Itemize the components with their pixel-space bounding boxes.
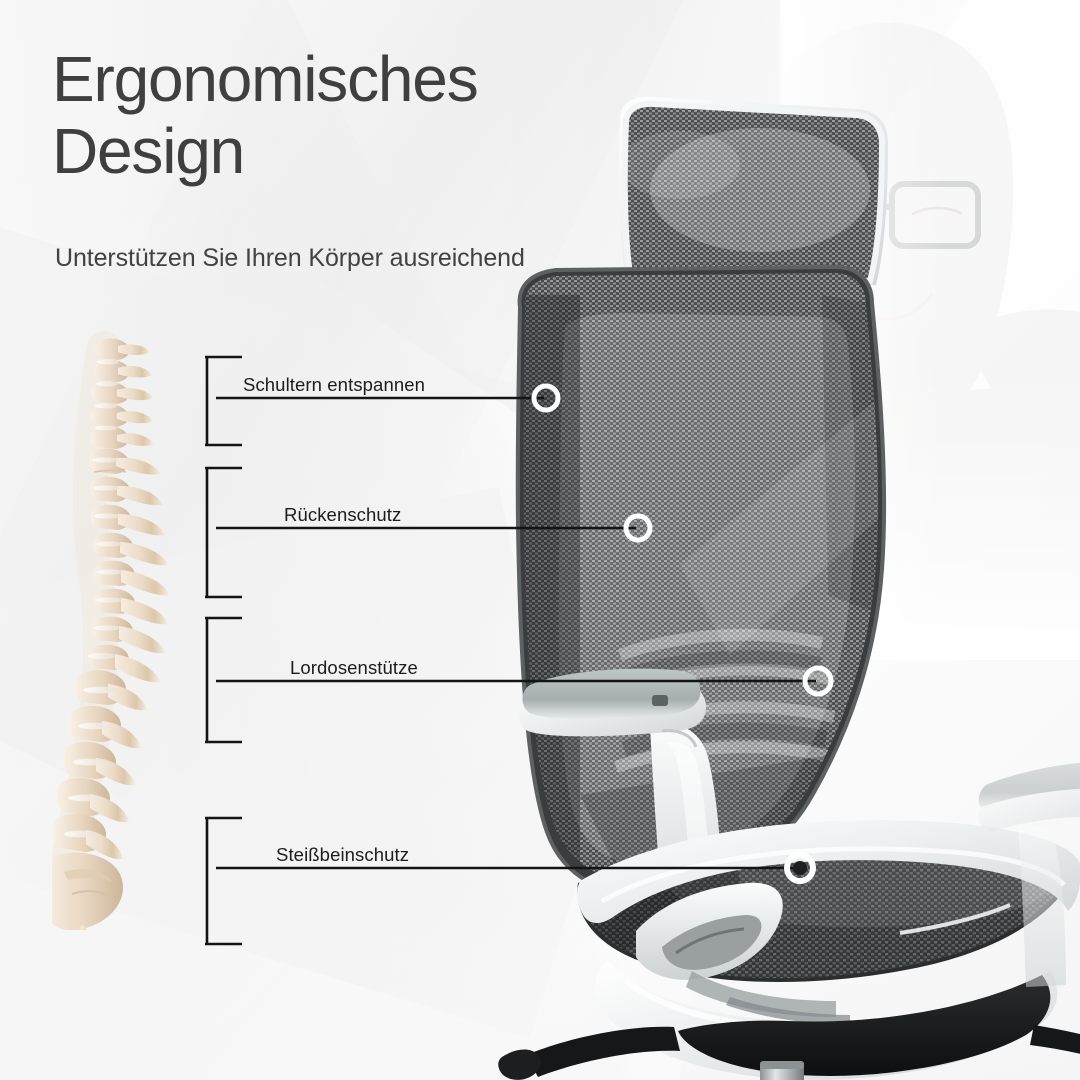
page-title: Ergonomisches Design [52, 44, 478, 187]
chair-base [498, 975, 1080, 1080]
page-subtitle: Unterstützen Sie Ihren Körper ausreichen… [55, 244, 525, 273]
infographic-canvas: Ergonomisches Design Unterstützen Sie Ih… [0, 0, 1080, 1080]
callout-label-back: Rückenschutz [284, 504, 401, 526]
ergonomic-mesh-office-chair [430, 95, 1080, 1080]
callout-label-lumbar: Lordosenstütze [290, 657, 418, 679]
human-spine-anatomy [52, 330, 172, 930]
callout-label-coccyx: Steißbeinschutz [276, 844, 409, 866]
callout-label-shoulders: Schultern entspannen [243, 374, 425, 396]
